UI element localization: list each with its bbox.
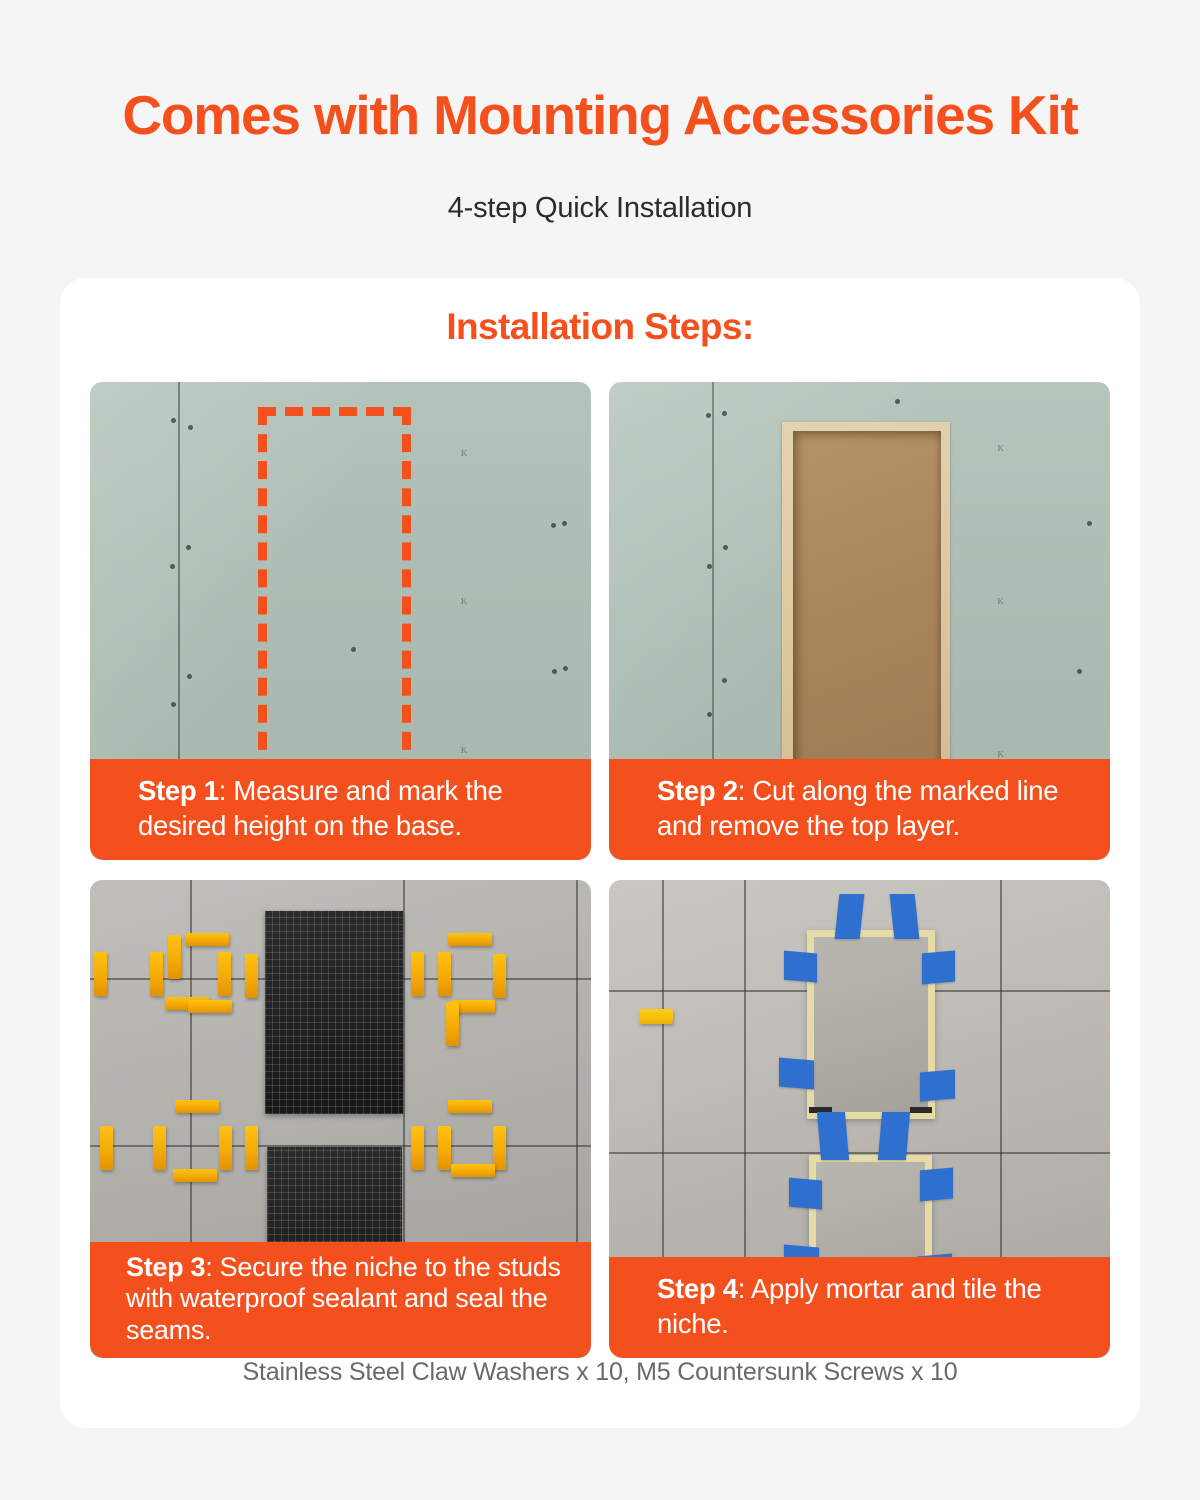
cut-opening [782, 422, 950, 809]
step-card-2[interactable]: ᴋ ᴋ ᴋ Step 2: Cut along the marked line … [609, 382, 1110, 860]
leveling-clip [446, 1002, 459, 1046]
step-1-caption: Step 1: Measure and mark the desired hei… [90, 759, 591, 861]
drywall-mark: ᴋ [461, 592, 468, 608]
leveling-clip [100, 1126, 113, 1170]
painters-tape [817, 1112, 849, 1160]
leveling-clip [219, 1126, 232, 1170]
painters-tape [835, 894, 865, 939]
screw-dot [895, 399, 900, 404]
niche-mesh-panel-upper [265, 911, 403, 1114]
painters-tape [922, 950, 955, 984]
screw-dot [563, 666, 568, 671]
step-1-label: Step 1 [138, 775, 219, 806]
step-2-separator: : [738, 775, 745, 806]
page-subtitle: 4-step Quick Installation [0, 192, 1200, 225]
leveling-clip [493, 954, 506, 998]
screw-dot [1077, 669, 1082, 674]
screw-dot [722, 411, 727, 416]
screw-dot [171, 702, 176, 707]
screw-dot [706, 413, 711, 418]
step-card-1[interactable]: ᴋ ᴋ ᴋ Step 1: Measure and mark the desir… [90, 382, 591, 860]
leveling-clip [188, 1000, 232, 1013]
painters-tape [920, 1070, 955, 1102]
leveling-clip [493, 1126, 506, 1170]
card-heading: Installation Steps: [60, 306, 1140, 348]
painters-tape [779, 1058, 814, 1090]
leveling-clip [175, 1100, 219, 1113]
leveling-clip [411, 1126, 424, 1170]
leveling-clip [245, 1126, 258, 1170]
step-1-separator: : [219, 775, 226, 806]
painters-tape [890, 894, 920, 939]
drywall-mark: ᴋ [997, 439, 1004, 455]
drywall-mark: ᴋ [461, 444, 468, 460]
painters-tape [920, 1168, 953, 1202]
painters-tape [789, 1177, 822, 1209]
screw-dot [551, 523, 556, 528]
opening-backing [793, 431, 941, 798]
niche-frame-upper [807, 930, 935, 1119]
leveling-clip [448, 1100, 492, 1113]
screw-dot [723, 545, 728, 550]
drywall-mark: ᴋ [997, 592, 1004, 608]
screw-dot [170, 564, 175, 569]
leveling-clip [448, 933, 492, 946]
screw-dot [188, 425, 193, 430]
painters-tape [877, 1112, 909, 1160]
leveling-clip [150, 952, 163, 996]
step-2-caption: Step 2: Cut along the marked line and re… [609, 759, 1110, 861]
leveling-clip [451, 1164, 495, 1177]
screw-dot [707, 564, 712, 569]
screw-dot [187, 674, 192, 679]
step-3-caption: Step 3: Secure the niche to the studs wi… [90, 1242, 591, 1358]
screw-dot [562, 521, 567, 526]
leveling-clip [218, 952, 231, 996]
accessories-note: Stainless Steel Claw Washers x 10, M5 Co… [60, 1358, 1140, 1387]
step-card-3[interactable]: Step 3: Secure the niche to the studs wi… [90, 880, 591, 1358]
measurement-outline [258, 407, 411, 804]
leveling-clip [411, 952, 424, 996]
drywall-mark: ᴋ [461, 741, 468, 757]
painters-tape [784, 950, 817, 982]
steps-grid: ᴋ ᴋ ᴋ Step 1: Measure and mark the desir… [90, 382, 1110, 1358]
screw-dot [1087, 521, 1092, 526]
leveling-clip [185, 933, 229, 946]
step-2-label: Step 2 [657, 775, 738, 806]
step-card-4[interactable]: Step 4: Apply mortar and tile the niche. [609, 880, 1110, 1358]
leveling-clip [245, 954, 258, 998]
step-4-caption: Step 4: Apply mortar and tile the niche. [609, 1257, 1110, 1359]
leveling-clip [438, 1126, 451, 1170]
leveling-clip [94, 952, 107, 996]
screw-dot [552, 669, 557, 674]
leveling-clip [639, 1009, 673, 1024]
page-title: Comes with Mounting Accessories Kit [0, 86, 1200, 145]
mount-bracket [910, 1107, 933, 1113]
screw-dot [186, 545, 191, 550]
installation-card: Installation Steps: ᴋ ᴋ ᴋ [60, 278, 1140, 1428]
step-3-label: Step 3 [126, 1252, 205, 1282]
leveling-clip [438, 952, 451, 996]
screw-dot [707, 712, 712, 717]
leveling-clip [168, 935, 181, 979]
leveling-clip [153, 1126, 166, 1170]
screw-dot [722, 678, 727, 683]
screw-dot [171, 418, 176, 423]
step-4-label: Step 4 [657, 1273, 738, 1304]
step-4-separator: : [738, 1273, 745, 1304]
leveling-clip [173, 1169, 217, 1182]
